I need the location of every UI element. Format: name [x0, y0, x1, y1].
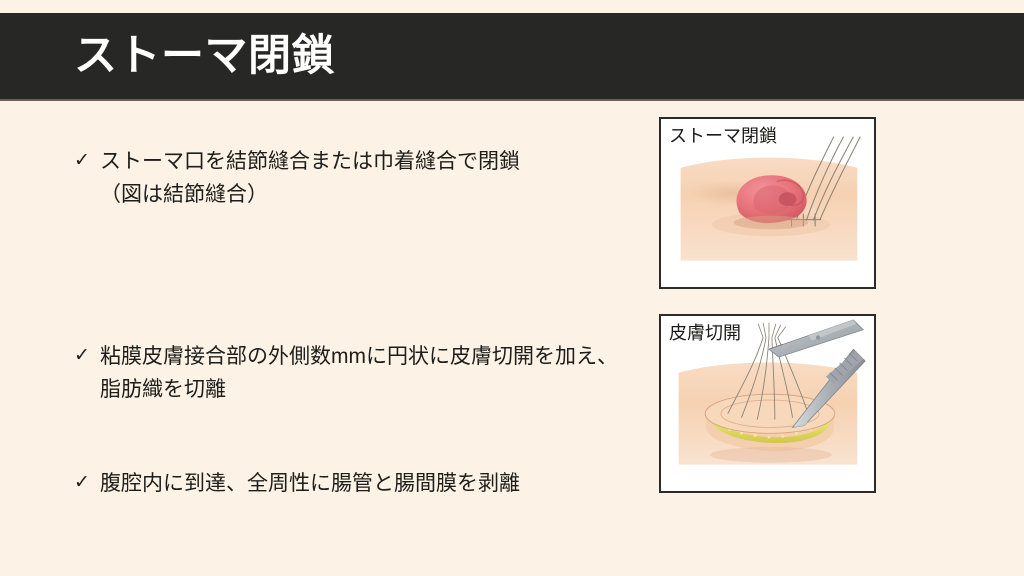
page-title: ストーマ閉鎖: [74, 35, 335, 78]
list-item-text: 粘膜皮膚接合部の外側数mmに円状に皮膚切開を加え、 脂肪織を切離: [100, 341, 654, 406]
figure-panel-skin-incision: 皮膚切開: [659, 314, 876, 493]
check-icon: ✓: [74, 468, 100, 498]
list-item: ✓ 粘膜皮膚接合部の外側数mmに円状に皮膚切開を加え、 脂肪織を切離: [74, 341, 654, 406]
figure-panel-stoma-closure: ストーマ閉鎖: [659, 117, 876, 289]
figure-caption: 皮膚切開: [669, 319, 741, 345]
check-icon: ✓: [74, 146, 100, 176]
list-item: ✓ 腹腔内に到達、全周性に腸管と腸間膜を剥離: [74, 468, 654, 501]
bullet-list: ✓ ストーマ口を結節縫合または巾着縫合で閉鎖 （図は結節縫合） ✓ 粘膜皮膚接合…: [74, 146, 654, 501]
list-item-text: 腹腔内に到達、全周性に腸管と腸間膜を剥離: [100, 468, 654, 501]
header-bar: ストーマ閉鎖: [0, 13, 1024, 101]
list-item: ✓ ストーマ口を結節縫合または巾着縫合で閉鎖 （図は結節縫合）: [74, 146, 654, 211]
list-item-text: ストーマ口を結節縫合または巾着縫合で閉鎖 （図は結節縫合）: [100, 146, 654, 211]
slide: ストーマ閉鎖 ✓ ストーマ口を結節縫合または巾着縫合で閉鎖 （図は結節縫合） ✓…: [0, 0, 1024, 576]
check-icon: ✓: [74, 341, 100, 371]
figure-caption: ストーマ閉鎖: [669, 122, 777, 148]
forceps-icon: [769, 320, 863, 357]
